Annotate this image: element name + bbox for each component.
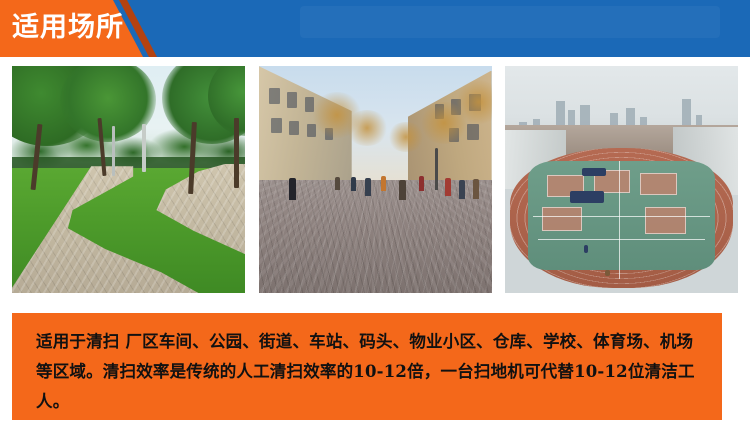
description-panel: 适用于清扫 厂区车间、公园、街道、车站、码头、物业小区、仓库、学校、体育场、机场… [12, 313, 722, 420]
field-basketball-court [645, 207, 687, 234]
street-pedestrian [399, 180, 406, 200]
photo-school-sports-field [505, 66, 738, 293]
field-basketball-court [542, 207, 581, 232]
photo-gallery [12, 66, 738, 293]
product-detail-page: 适用场所 [0, 0, 750, 429]
page-title: 适用场所 [12, 8, 117, 48]
photo-pedestrian-street [259, 66, 492, 293]
street-pedestrian [445, 178, 451, 196]
park-lamp-post [112, 126, 115, 176]
field-student-group [582, 168, 606, 176]
field-boundary-line [538, 239, 706, 240]
section-header-banner: 适用场所 [0, 0, 750, 57]
field-student-group [570, 191, 604, 203]
street-pedestrian [351, 177, 356, 191]
street-tree [345, 110, 389, 146]
street-pedestrian [473, 179, 479, 199]
street-pedestrian [381, 176, 386, 191]
street-pedestrian [365, 178, 371, 196]
street-window [287, 92, 297, 108]
field-center-line [619, 161, 620, 279]
street-window [269, 88, 280, 104]
street-pedestrian [289, 178, 296, 200]
street-pedestrian [459, 180, 465, 199]
field-center-line [533, 216, 710, 217]
street-window [289, 121, 299, 135]
street-window [271, 118, 282, 133]
street-pedestrian [419, 176, 424, 191]
street-lamp-post [435, 148, 438, 190]
photo-park-path [12, 66, 245, 293]
park-tree-trunk [234, 118, 239, 188]
description-text: 适用于清扫 厂区车间、公园、街道、车站、码头、物业小区、仓库、学校、体育场、机场… [36, 327, 704, 417]
banner-sheen-decoration [300, 6, 720, 38]
park-pergola-post [142, 124, 146, 172]
field-basketball-court [640, 173, 677, 195]
street-pedestrian [335, 177, 340, 190]
field-student-person [584, 245, 588, 253]
